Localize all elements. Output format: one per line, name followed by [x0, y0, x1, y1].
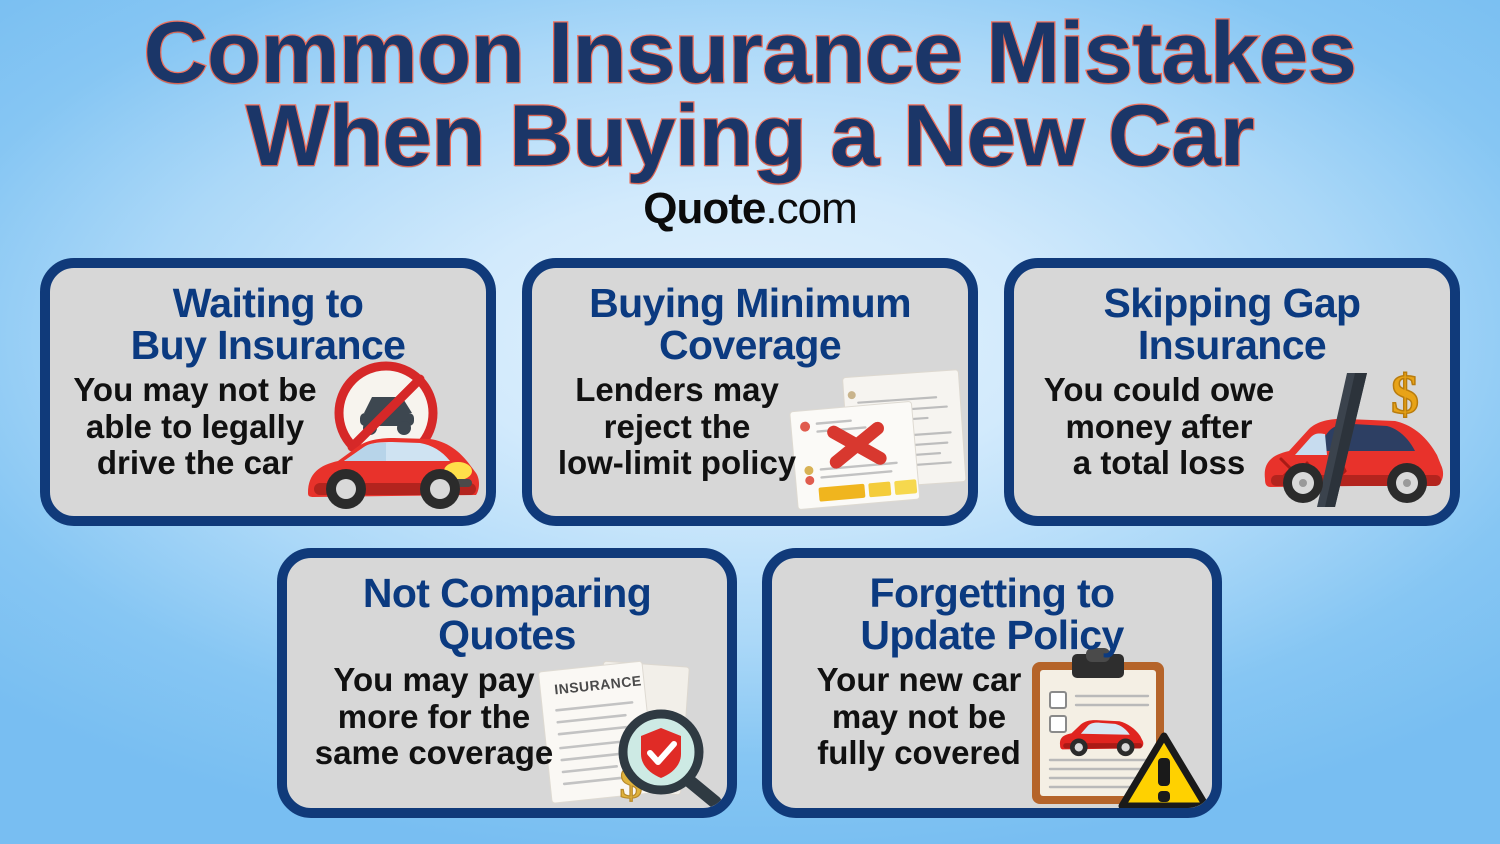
- mistake-card-buying-minimum-coverage: Buying Minimum Coverage Lenders may reje…: [522, 258, 978, 526]
- mistake-card-waiting-to-buy-insurance: Waiting to Buy Insurance You may not be …: [40, 258, 496, 526]
- brand-logo: Quote.com: [0, 187, 1500, 231]
- cards-row-top: Waiting to Buy Insurance You may not be …: [40, 258, 1460, 526]
- poster-title-line-2: When Buying a New Car: [0, 95, 1500, 178]
- card-title: Not Comparing Quotes: [363, 572, 651, 656]
- poster-title-line-1: Common Insurance Mistakes: [0, 12, 1500, 95]
- card-title: Waiting to Buy Insurance: [131, 282, 406, 366]
- mistake-card-forgetting-to-update-policy: Forgetting to Update Policy Your new car…: [762, 548, 1222, 818]
- card-title: Skipping Gap Insurance: [1103, 282, 1360, 366]
- card-body: Lenders may reject the low-limit policy: [542, 372, 958, 481]
- brand-logo-name: Quote: [643, 184, 765, 233]
- mistake-card-not-comparing-quotes: Not Comparing Quotes You may pay more fo…: [277, 548, 737, 818]
- card-body: You could owe money after a total loss: [1024, 372, 1440, 481]
- card-body: Your new car may not be fully covered: [782, 662, 1202, 771]
- card-title: Forgetting to Update Policy: [860, 572, 1123, 656]
- mistake-card-skipping-gap-insurance: Skipping Gap Insurance You could owe mon…: [1004, 258, 1460, 526]
- card-body: You may pay more for the same coverage: [297, 662, 717, 771]
- infographic-poster: Common Insurance Mistakes When Buying a …: [0, 0, 1500, 844]
- card-body: You may not be able to legally drive the…: [60, 372, 476, 481]
- poster-header: Common Insurance Mistakes When Buying a …: [0, 0, 1500, 231]
- brand-logo-tld: .com: [765, 184, 856, 233]
- cards-row-bottom: Not Comparing Quotes You may pay more fo…: [277, 548, 1222, 818]
- card-title: Buying Minimum Coverage: [589, 282, 911, 366]
